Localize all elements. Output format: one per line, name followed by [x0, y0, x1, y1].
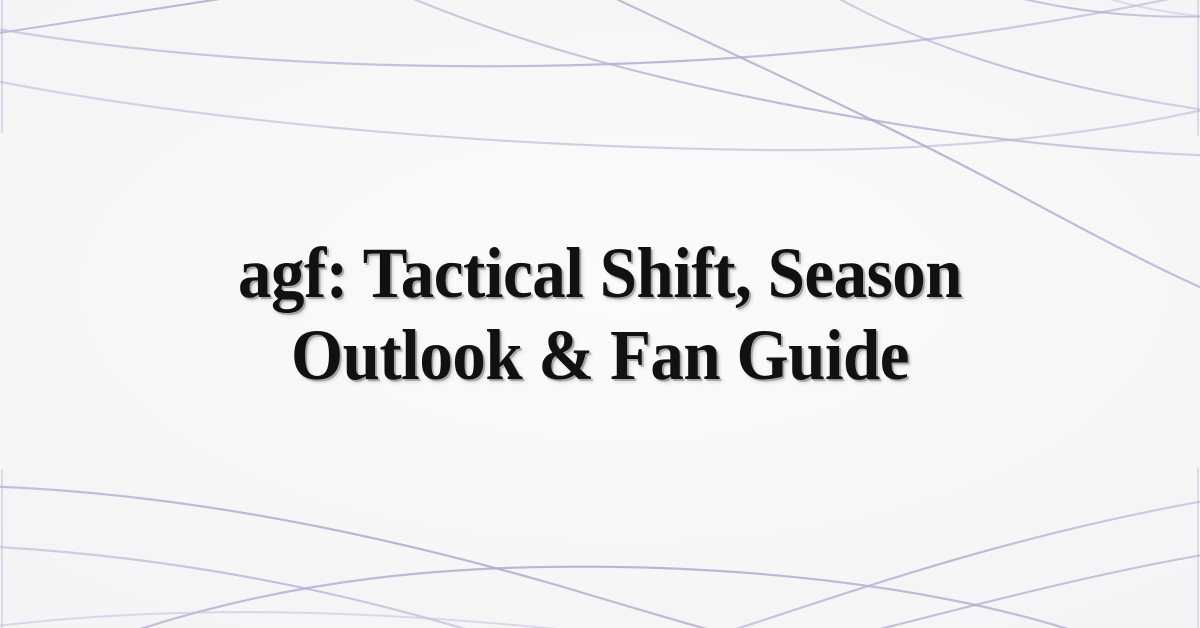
title-container: agf: Tactical Shift, Season Outlook & Fa…: [0, 0, 1200, 628]
page-title: agf: Tactical Shift, Season Outlook & Fa…: [191, 232, 1009, 396]
og-image-card: agf: Tactical Shift, Season Outlook & Fa…: [0, 0, 1200, 628]
